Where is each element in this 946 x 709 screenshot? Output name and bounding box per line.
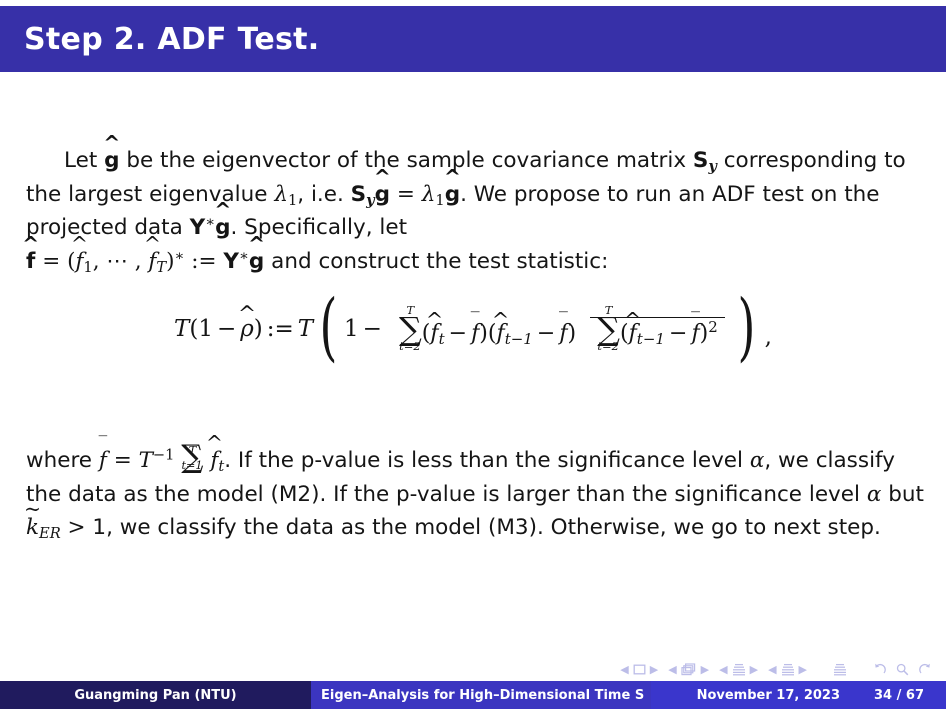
p1-text-7: . Specifically, let bbox=[231, 215, 408, 240]
eq-fraction: T∑t=2(^ft−‾f)(^ft−1−‾f) T∑t=2(^ft−1−‾f)2 bbox=[392, 310, 725, 348]
footer-talk-title: Eigen–Analysis for High–Dimensional Time… bbox=[311, 681, 651, 709]
eq-den-sum: T∑t=2 bbox=[597, 310, 620, 348]
next-frame-triangle-icon[interactable]: ▶ bbox=[701, 664, 709, 675]
slide-square-icon[interactable] bbox=[633, 664, 646, 675]
nav-slide-group[interactable]: ◀ ▶ bbox=[620, 664, 658, 675]
paragraph-classification: where ‾f = T−1 T∑t=1 ^ft. If the p-value… bbox=[26, 441, 926, 545]
document-lines-icon[interactable] bbox=[833, 663, 847, 676]
eq-denominator: T∑t=2(^ft−1−‾f)2 bbox=[590, 317, 725, 346]
eq-den-sum-lower: t=2 bbox=[597, 339, 619, 353]
nav-frame-group[interactable]: ◀ ▶ bbox=[668, 663, 709, 676]
eq-num-sum-lower: t=2 bbox=[399, 339, 421, 353]
p2-sum: T∑t=1 bbox=[181, 441, 203, 478]
p2-text-1: where bbox=[26, 448, 92, 473]
footer-author: Guangming Pan (NTU) bbox=[0, 681, 311, 709]
prev-section-triangle-icon[interactable]: ◀ bbox=[768, 664, 776, 675]
eq-right-paren: ) bbox=[737, 305, 755, 351]
next-slide-triangle-icon[interactable]: ▶ bbox=[650, 664, 658, 675]
eq-minus-1: − bbox=[213, 316, 240, 342]
eq-f-bar-2: ‾f bbox=[559, 321, 567, 346]
math-eigen-equation: Sy^g = λ1^g bbox=[351, 182, 460, 207]
eq-outer-T: T bbox=[298, 316, 313, 342]
eq-lhs-close: ) bbox=[254, 316, 263, 342]
p2-text-2: . If the p-value is less than the signif… bbox=[224, 448, 743, 473]
p1-text-5: . We propose to bbox=[460, 182, 629, 207]
math-f-definition: ^f = (^f1, ⋯ , ^fT)∗ := Y∗^g bbox=[26, 249, 264, 274]
eq-rho-hat: ^ρ bbox=[240, 316, 254, 342]
next-subsection-triangle-icon[interactable]: ▶ bbox=[750, 664, 758, 675]
nav-section-group[interactable]: ◀ ▶ bbox=[768, 663, 807, 676]
math-S-y: Sy bbox=[693, 148, 717, 173]
eq-lhs-T: T bbox=[174, 316, 189, 342]
p1-text-8: and construct the test statistic: bbox=[271, 249, 608, 274]
search-magnifier-icon[interactable] bbox=[896, 663, 909, 676]
eq-f-hat-t-1: ^f bbox=[497, 321, 505, 346]
eq-minus-2: − bbox=[359, 316, 386, 342]
eq-one: 1 bbox=[344, 316, 359, 342]
math-greater-than: > bbox=[68, 515, 86, 540]
display-equation-test-statistic: T(1−^ρ) := T ( 1 − T∑t=2(^ft−‾f)(^ft−1−‾… bbox=[0, 306, 946, 352]
p1-text-4: , i.e. bbox=[297, 182, 344, 207]
back-arrow-icon[interactable] bbox=[873, 663, 886, 676]
eq-num-sum-upper: T bbox=[407, 303, 415, 317]
eq-lhs-open: (1 bbox=[189, 316, 213, 342]
page-title: Step 2. ADF Test. bbox=[0, 22, 320, 57]
paragraph-intro: Let ^g be the eigenvector of the sample … bbox=[26, 144, 921, 278]
prev-frame-triangle-icon[interactable]: ◀ bbox=[668, 664, 676, 675]
eq-assign: := bbox=[263, 316, 298, 342]
frames-stack-icon[interactable] bbox=[681, 663, 697, 676]
math-f-bar-def: ‾f = T−1 T∑t=1 ^ft bbox=[99, 448, 224, 473]
p1-text-1: Let bbox=[64, 148, 97, 173]
next-section-triangle-icon[interactable]: ▶ bbox=[799, 664, 807, 675]
prev-subsection-triangle-icon[interactable]: ◀ bbox=[719, 664, 727, 675]
subsection-lines-icon[interactable] bbox=[732, 663, 746, 676]
eq-f-hat-t: ^f bbox=[430, 321, 438, 346]
p1-text-2: be the eigenvector of the sample covaria… bbox=[126, 148, 686, 173]
eq-numerator: T∑t=2(^ft−‾f)(^ft−1−‾f) bbox=[392, 321, 590, 348]
eq-den-f-hat: ^f bbox=[629, 321, 637, 346]
footer-page-number: 34 / 67 bbox=[874, 688, 924, 703]
footer-date: November 17, 2023 bbox=[697, 688, 840, 703]
math-k-ER: ~kER bbox=[26, 515, 61, 540]
slide-content: Let ^g be the eigenvector of the sample … bbox=[0, 72, 946, 637]
equation-row: T(1−^ρ) := T ( 1 − T∑t=2(^ft−‾f)(^ft−1−‾… bbox=[174, 306, 772, 352]
math-g-hat: ^g bbox=[104, 144, 119, 178]
eq-left-paren: ( bbox=[320, 305, 338, 351]
math-alpha-2: α bbox=[867, 482, 882, 507]
eq-den-f-bar: ‾f bbox=[691, 321, 699, 346]
eq-f-bar-1: ‾f bbox=[471, 321, 479, 346]
eq-den-sum-upper: T bbox=[605, 303, 613, 317]
math-lambda-1: λ1 bbox=[274, 182, 297, 207]
math-Y-star-g: Y∗^g bbox=[190, 215, 231, 240]
eq-trailing-comma: , bbox=[762, 324, 772, 352]
eq-num-sum: T∑t=2 bbox=[399, 310, 422, 348]
p2-text-4: but bbox=[888, 482, 924, 507]
nav-subsection-group[interactable]: ◀ ▶ bbox=[719, 663, 758, 676]
footer-meta: November 17, 2023 34 / 67 bbox=[651, 681, 946, 709]
slide-title-bar: Step 2. ADF Test. bbox=[0, 6, 946, 72]
prev-slide-triangle-icon[interactable]: ◀ bbox=[620, 664, 628, 675]
section-lines-icon[interactable] bbox=[781, 663, 795, 676]
math-alpha-1: α bbox=[750, 448, 765, 473]
slide-footer: Guangming Pan (NTU) Eigen–Analysis for H… bbox=[0, 681, 946, 709]
p2-text-5: 1, we classify the data as the model (M3… bbox=[92, 515, 880, 540]
forward-arrow-icon[interactable] bbox=[919, 663, 932, 676]
beamer-navigation-symbols[interactable]: ◀ ▶ ◀ ▶ ◀ ▶ ◀ bbox=[620, 658, 932, 680]
